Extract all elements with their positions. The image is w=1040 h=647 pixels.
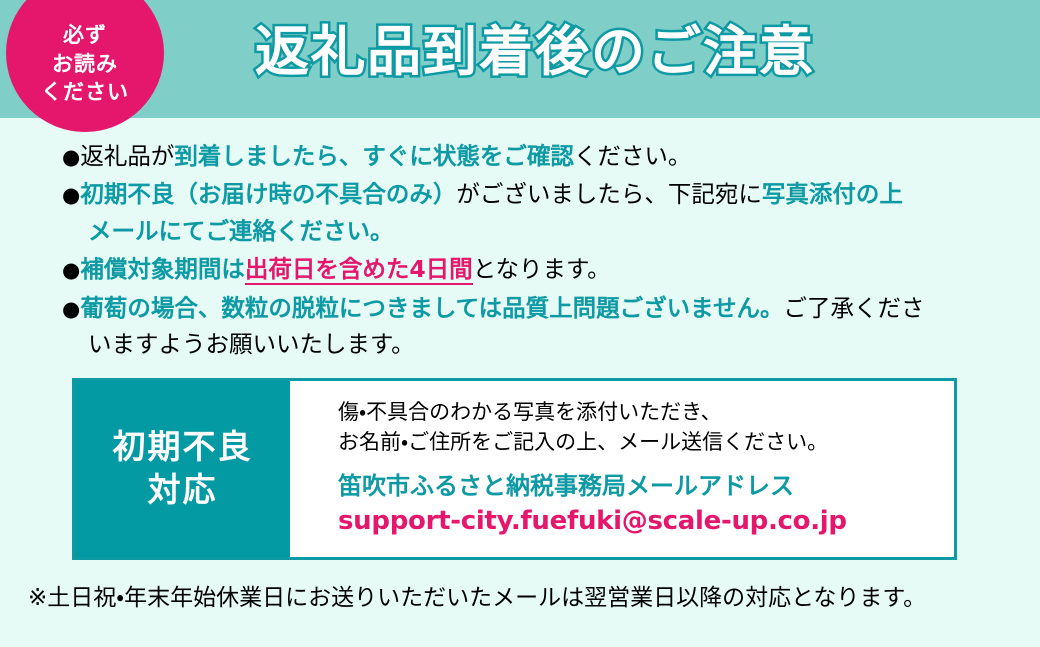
footer-note: ※土日祝・年末年始休業日にお送りいただいたメールは翌営業日以降の対応となります。: [28, 582, 926, 614]
notice-line: ●返礼品が到着しましたら、すぐに状態をご確認ください。: [62, 138, 1012, 174]
notice-line: ●初期不良（お届け時の不具合のみ）がございましたら、下記宛に写真添付の上: [62, 176, 1012, 212]
notice-segment: 到着しましたら、すぐに状態をご確認: [174, 142, 574, 170]
defect-label-line-1: 初期不良: [113, 426, 253, 469]
notice-segment: となります。: [473, 255, 611, 283]
bullet-dot-icon: ●: [62, 183, 80, 207]
contact-email[interactable]: support-city.fuefuki@scale-up.co.jp: [338, 504, 954, 539]
notice-segment: 出荷日を含めた4日間: [245, 255, 473, 285]
notice-segment: ください。: [574, 142, 692, 170]
badge-line-2: お読み: [52, 50, 118, 79]
notice-segment: いますようお願いいたします。: [88, 330, 415, 358]
notice-segment: 葡萄の場合、数粒の脱粒につきましては品質上問題ございません。: [80, 294, 783, 322]
contact-heading: 笛吹市ふるさと納税事務局メールアドレス: [338, 468, 954, 504]
notice-segment: 写真添付の上: [762, 180, 903, 208]
notice-item: ●初期不良（お届け時の不具合のみ）がございましたら、下記宛に写真添付の上メールに…: [62, 176, 1012, 249]
badge-line-1: 必ず: [63, 21, 107, 50]
notice-list: ●返礼品が到着しましたら、すぐに状態をご確認ください。●初期不良（お届け時の不具…: [62, 138, 1012, 365]
notice-segment: 返礼品が: [80, 142, 174, 170]
bullet-dot-icon: ●: [62, 145, 80, 169]
notice-line: ●葡萄の場合、数粒の脱粒につきましては品質上問題ございません。ご了承くださ: [62, 290, 1012, 326]
bullet-dot-icon: ●: [62, 297, 80, 321]
instruction-line-1: 傷・不具合のわかる写真を添付いただき、: [338, 397, 954, 427]
notice-line: ●補償対象期間は出荷日を含めた4日間となります。: [62, 251, 1012, 287]
notice-item: ●補償対象期間は出荷日を含めた4日間となります。: [62, 251, 1012, 287]
defect-label-line-2: 対応: [148, 469, 218, 512]
notice-segment: メールにてご連絡ください。: [88, 217, 394, 245]
notice-segment: がございましたら、下記宛に: [456, 180, 762, 208]
defect-response-label: 初期不良 対応: [75, 381, 290, 557]
notice-continuation-line: メールにてご連絡ください。: [62, 213, 1012, 249]
notice-item: ●葡萄の場合、数粒の脱粒につきましては品質上問題ございません。ご了承くださいます…: [62, 290, 1012, 363]
bullet-dot-icon: ●: [62, 258, 80, 282]
notice-continuation-line: いますようお願いいたします。: [62, 326, 1012, 362]
badge-line-3: ください: [41, 78, 129, 107]
defect-response-box: 初期不良 対応 傷・不具合のわかる写真を添付いただき、 お名前・ご住所をご記入の…: [72, 378, 957, 560]
notice-item: ●返礼品が到着しましたら、すぐに状態をご確認ください。: [62, 138, 1012, 174]
notice-segment: ご了承くださ: [783, 294, 924, 322]
instruction-line-2: お名前・ご住所をご記入の上、メール送信ください。: [338, 427, 954, 457]
defect-response-content: 傷・不具合のわかる写真を添付いただき、 お名前・ご住所をご記入の上、メール送信く…: [290, 381, 954, 557]
page-title: 返礼品到着後のご注意: [255, 20, 815, 85]
notice-segment: 補償対象期間は: [80, 255, 245, 283]
notice-segment: 初期不良（お届け時の不具合のみ）: [80, 180, 456, 208]
